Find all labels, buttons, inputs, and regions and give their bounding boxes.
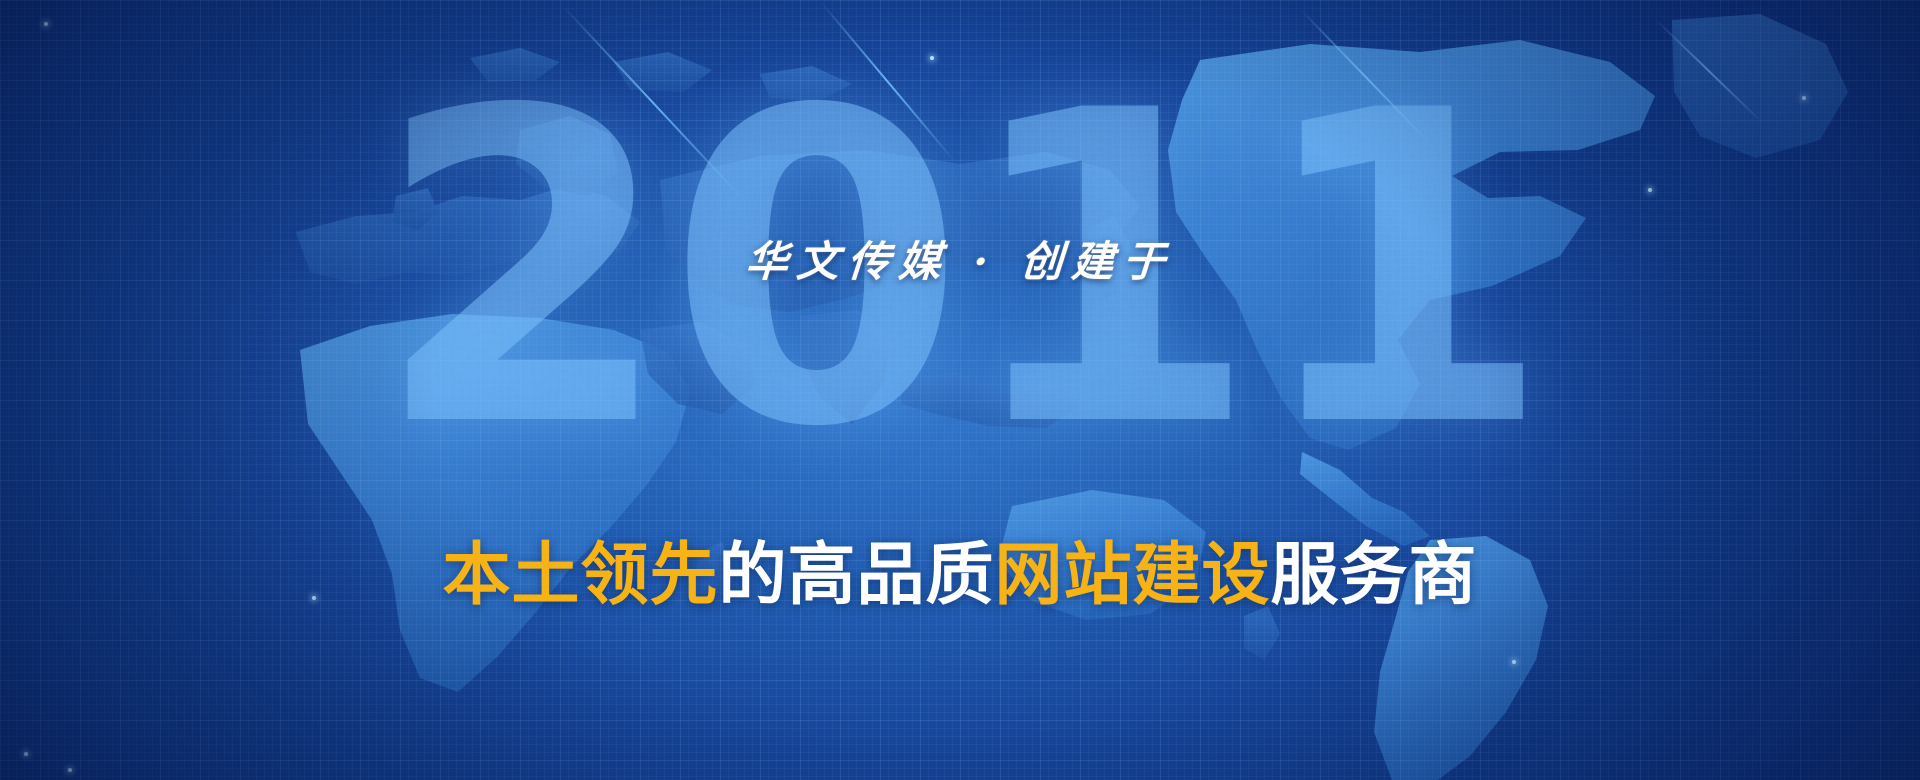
- hero-banner: 2011 华文传媒 · 创建于 本土领先的高品质网站建设服务商: [0, 0, 1920, 780]
- vignette-overlay: [0, 0, 1920, 780]
